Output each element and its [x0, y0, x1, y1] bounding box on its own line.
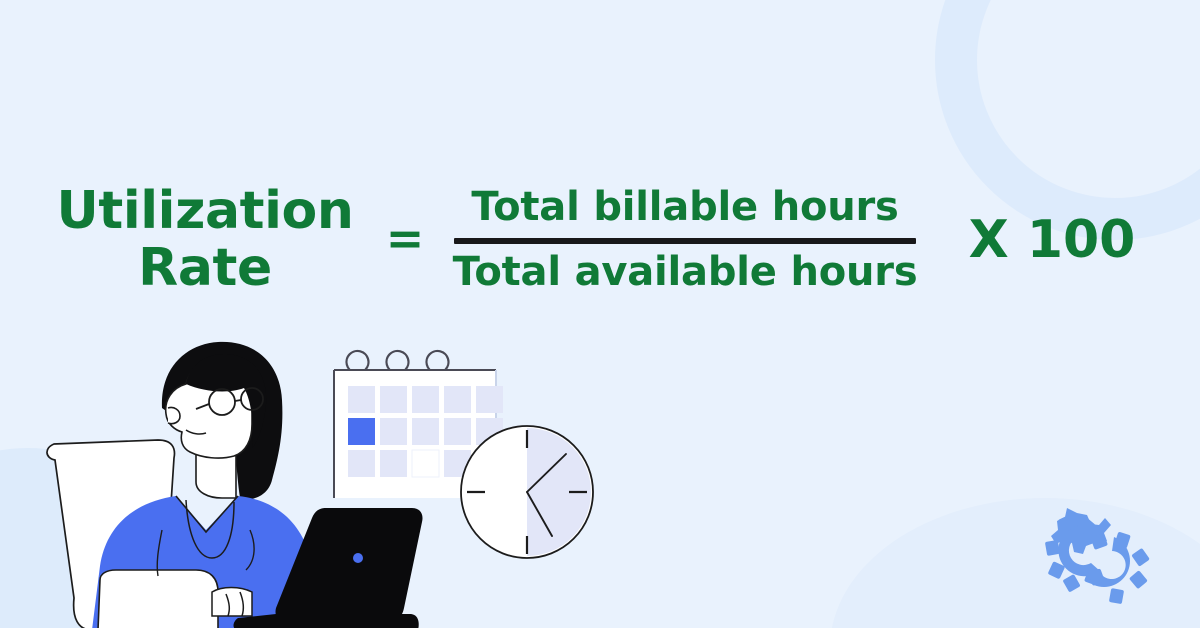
formula-fraction: Total billable hours Total available hou…: [440, 183, 930, 297]
clock-icon: [461, 426, 593, 558]
formula-subject: Utilization Rate: [40, 183, 370, 297]
calendar-cell: [348, 386, 375, 413]
calendar-cell-empty: [412, 450, 439, 477]
fraction-bar: [454, 238, 916, 244]
calendar-cell: [412, 386, 439, 413]
equals-sign: =: [370, 215, 440, 265]
calendar-cell-highlighted: [348, 418, 375, 445]
calendar-cell: [380, 386, 407, 413]
calendar-cell: [444, 386, 471, 413]
fraction-denominator: Total available hours: [453, 248, 918, 297]
gears-icon-group: [1040, 505, 1160, 615]
illustration-group: [0, 330, 700, 628]
nose: [168, 407, 180, 423]
infographic-canvas: Utilization Rate = Total billable hours …: [0, 0, 1200, 628]
forearm-left: [98, 570, 218, 628]
hands: [212, 588, 252, 617]
calendar-cell: [444, 418, 471, 445]
calendar-cell: [412, 418, 439, 445]
fraction-numerator: Total billable hours: [471, 183, 898, 232]
calendar-cell: [380, 418, 407, 445]
laptop-logo-dot: [353, 553, 363, 563]
utilization-rate-formula: Utilization Rate = Total billable hours …: [40, 160, 1180, 320]
formula-subject-line-2: Rate: [40, 240, 370, 297]
formula-multiplier: X 100: [930, 214, 1160, 266]
gear-icon-secondary: [1088, 531, 1150, 604]
calendar-cell: [348, 450, 375, 477]
laptop-screen: [275, 508, 422, 622]
calendar-cell: [380, 450, 407, 477]
laptop-base: [234, 614, 419, 628]
formula-subject-line-1: Utilization: [40, 183, 370, 240]
calendar-cell: [476, 386, 503, 413]
